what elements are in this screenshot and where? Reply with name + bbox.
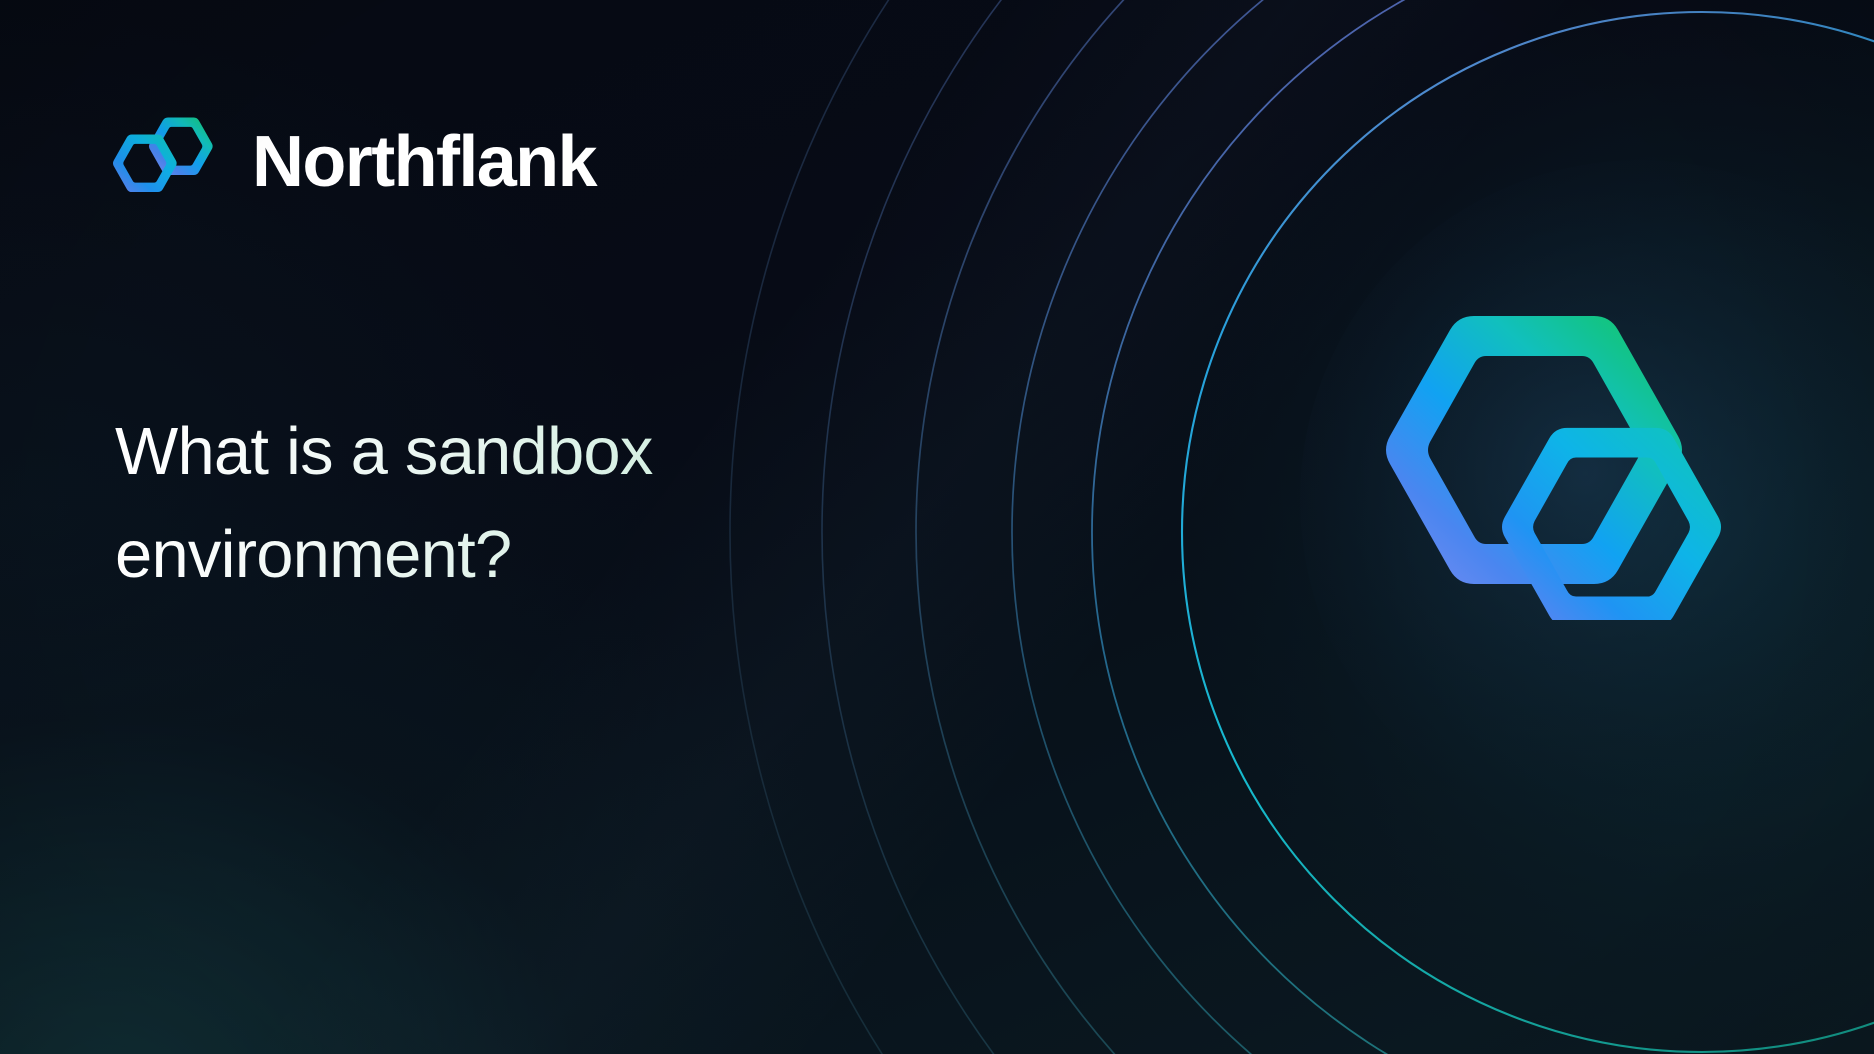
headline: What is a sandbox environment? [115, 400, 875, 606]
brand-lockup: Northflank [113, 112, 596, 212]
headline-line-1: What is a sandbox [115, 400, 875, 503]
og-card: Northflank What is a sandbox environment… [0, 0, 1874, 1054]
headline-line-2: environment? [115, 503, 875, 606]
brand-wordmark: Northflank [252, 126, 596, 198]
northflank-hexagon-mark-icon [113, 112, 226, 212]
